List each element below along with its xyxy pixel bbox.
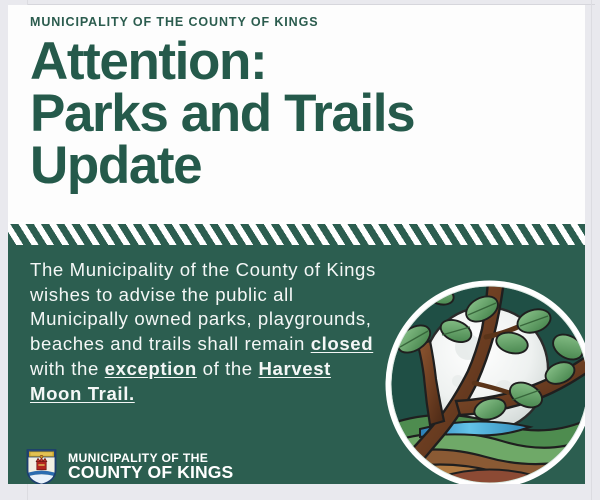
organization-eyebrow: MUNICIPALITY OF THE COUNTY OF KINGS [30,16,585,30]
footer-brand-line-2: COUNTY OF KINGS [68,464,233,482]
page-title-line-2: Parks and Trails [30,88,585,140]
poster-header: MUNICIPALITY OF THE COUNTY OF KINGS Atte… [8,5,585,222]
page-title-line-3: Update [30,140,585,192]
notice-emphasis-phrase: closed [311,333,374,354]
notice-body-text: The Municipality of the County of Kings … [30,258,380,406]
coat-of-arms-crest-icon [26,448,57,484]
parks-and-trails-moon-tree-emblem-icon [382,277,585,484]
notice-poster: MUNICIPALITY OF THE COUNTY OF KINGS Atte… [8,5,585,484]
page-title-line-1: Attention: [30,36,585,88]
footer-brand-text: MUNICIPALITY OF THE COUNTY OF KINGS [68,452,233,482]
footer-brand-lockup: MUNICIPALITY OF THE COUNTY OF KINGS [26,448,233,484]
notice-text-run: of the [197,358,259,379]
diagonal-stripe-divider [8,224,585,245]
viewer-right-rule [591,0,592,500]
notice-emphasis-phrase: exception [105,358,197,379]
page-title: Attention: Parks and Trails Update [30,36,585,192]
notice-text-run: with the [30,358,105,379]
